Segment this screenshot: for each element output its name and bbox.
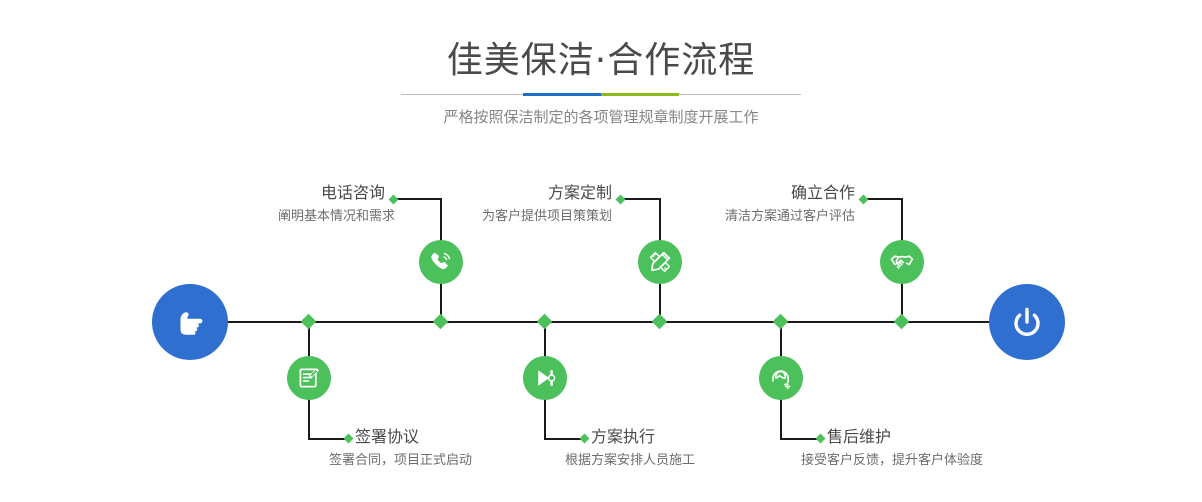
step-4-icon-node xyxy=(523,356,567,400)
timeline-axis xyxy=(152,321,1050,323)
thumbs-up-pointing-hand-icon xyxy=(168,300,212,344)
step-1-tip-marker xyxy=(389,195,399,205)
page-subtitle: 严格按照保洁制定的各项管理规章制度开展工作 xyxy=(0,106,1202,128)
customer-service-add-icon xyxy=(768,365,794,391)
timeline-start-node xyxy=(152,284,228,360)
timeline: 电话咨询 阐明基本情况和需求 签署协议 签署合同，项目正式启动 xyxy=(0,150,1202,502)
step-3-title: 方案定制 xyxy=(400,183,612,203)
step-3-hline xyxy=(621,198,660,200)
axis-marker-2 xyxy=(301,314,317,330)
step-4-desc: 根据方案安排人员施工 xyxy=(565,452,695,470)
document-sign-icon xyxy=(296,365,322,391)
axis-marker-4 xyxy=(537,314,553,330)
step-5-title: 确立合作 xyxy=(645,183,855,203)
divider-segment-blue xyxy=(523,93,601,96)
axis-marker-6 xyxy=(773,314,789,330)
step-1-title: 电话咨询 xyxy=(170,183,385,203)
step-2-tip-marker xyxy=(344,434,354,444)
page-title: 佳美保洁·合作流程 xyxy=(0,38,1202,84)
step-3-desc: 为客户提供项目策策划 xyxy=(350,208,612,226)
step-6-title: 售后维护 xyxy=(827,427,891,447)
axis-marker-5 xyxy=(894,314,910,330)
step-1-icon-node xyxy=(419,240,463,284)
step-6-icon-node xyxy=(759,356,803,400)
step-3-icon-node xyxy=(638,240,682,284)
step-5-desc: 清洁方案通过客户评估 xyxy=(593,208,855,226)
play-next-icon xyxy=(532,365,558,391)
step-2-title: 签署协议 xyxy=(355,427,419,447)
divider-segment-green xyxy=(601,93,679,96)
pencil-ruler-icon xyxy=(647,249,673,275)
step-5-hline xyxy=(864,198,902,200)
step-2-icon-node xyxy=(287,356,331,400)
step-5-tip-marker xyxy=(859,195,869,205)
handshake-icon xyxy=(889,249,915,275)
step-3-tip-marker xyxy=(616,195,626,205)
title-divider xyxy=(401,93,801,96)
step-5-icon-node xyxy=(880,240,924,284)
power-icon xyxy=(1005,300,1049,344)
step-6-tip-marker xyxy=(816,434,826,444)
axis-marker-3 xyxy=(652,314,668,330)
phone-call-icon xyxy=(428,249,454,275)
step-4-title: 方案执行 xyxy=(591,427,655,447)
step-2-desc: 签署合同，项目正式启动 xyxy=(329,452,472,470)
process-flow-infographic: 佳美保洁·合作流程 严格按照保洁制定的各项管理规章制度开展工作 xyxy=(0,0,1202,502)
step-4-tip-marker xyxy=(580,434,590,444)
step-6-desc: 接受客户反馈，提升客户体验度 xyxy=(801,452,983,470)
axis-marker-1 xyxy=(433,314,449,330)
timeline-end-node xyxy=(989,284,1065,360)
step-1-hline xyxy=(394,198,441,200)
header: 佳美保洁·合作流程 严格按照保洁制定的各项管理规章制度开展工作 xyxy=(0,0,1202,150)
